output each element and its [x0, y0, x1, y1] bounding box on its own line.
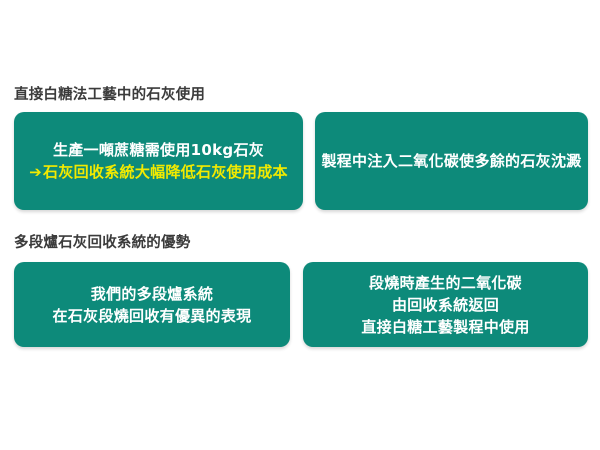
card-line-used-in-direct-sugar-process: 直接白糖工藝製程中使用	[361, 316, 529, 338]
arrow-right-icon: ➔	[29, 161, 42, 183]
slide-canvas: 直接白糖法工藝中的石灰使用 生產一噸蔗糖需使用10kg石灰 ➔石灰回收系統大幅降…	[0, 0, 600, 450]
card-line-lime-calcination-performance: 在石灰段燒回收有優異的表現	[53, 305, 252, 327]
card-multi-hearth-performance: 我們的多段爐系統 在石灰段燒回收有優異的表現	[14, 262, 290, 347]
section-heading-multi-hearth-advantages: 多段爐石灰回收系統的優勢	[14, 235, 190, 252]
card-co2-injection: 製程中注入二氧化碳使多餘的石灰沈澱	[315, 112, 588, 210]
card-line-co2-generated: 段燒時產生的二氧化碳	[369, 272, 522, 294]
card-line-returned-by-recovery-system: 由回收系統返回	[392, 294, 499, 316]
section-heading-lime-usage: 直接白糖法工藝中的石灰使用	[14, 87, 205, 104]
card-line-co2-injection: 製程中注入二氧化碳使多餘的石灰沈澱	[321, 150, 581, 172]
card-line-lime-consumption: 生產一噸蔗糖需使用10kg石灰	[53, 139, 264, 161]
card-lime-usage: 生產一噸蔗糖需使用10kg石灰 ➔石灰回收系統大幅降低石灰使用成本	[14, 112, 303, 210]
card-line-lime-recovery-benefit-text: 石灰回收系統大幅降低石灰使用成本	[43, 163, 288, 181]
card-line-our-multi-hearth-system: 我們的多段爐系統	[91, 283, 213, 305]
card-line-lime-recovery-benefit: ➔石灰回收系統大幅降低石灰使用成本	[29, 161, 288, 183]
card-co2-return: 段燒時產生的二氧化碳 由回收系統返回 直接白糖工藝製程中使用	[303, 262, 588, 347]
